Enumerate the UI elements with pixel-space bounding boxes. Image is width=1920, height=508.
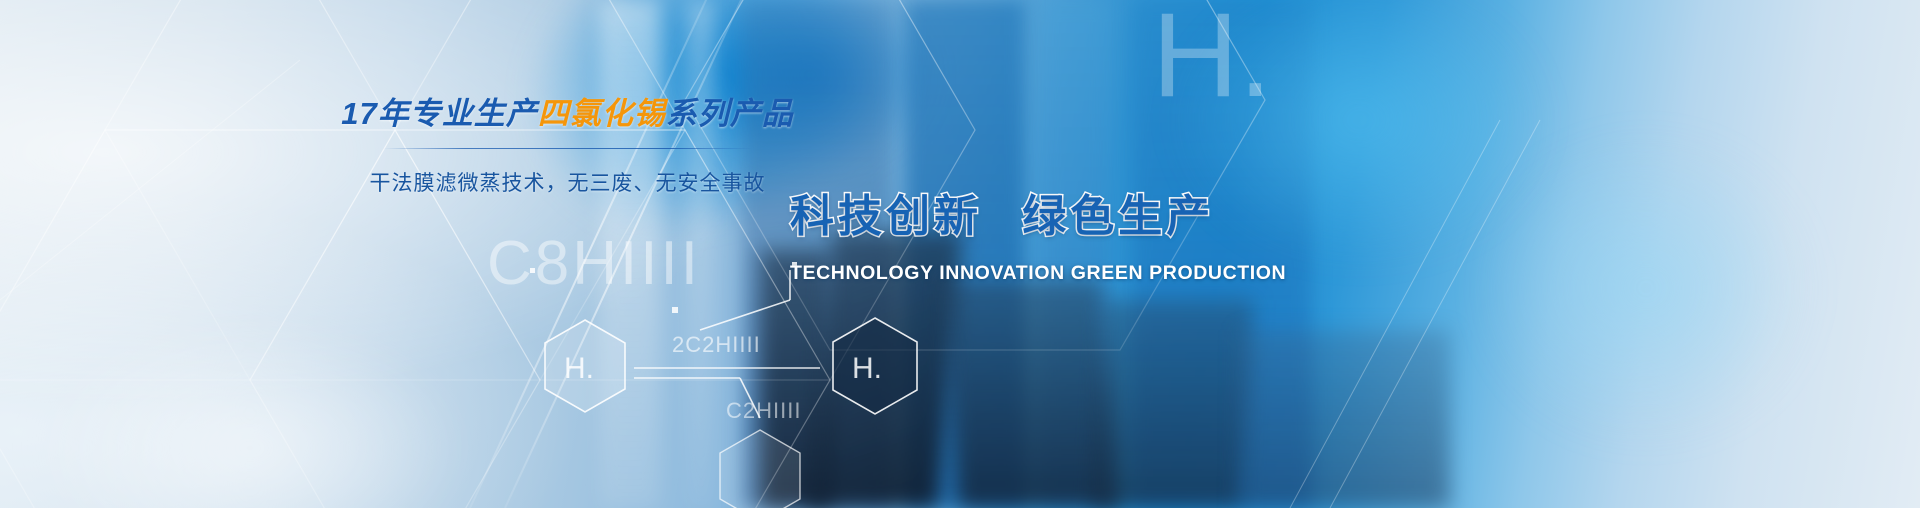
slogan-spacer: [982, 192, 1022, 241]
hexagon-label-left: H.: [564, 352, 594, 386]
slogan-chinese-part1: 科技创新: [790, 192, 982, 241]
lab-equipment-silhouette-3: [942, 280, 1118, 508]
hero-banner: H. C8HIIII 2C2HIIII C2HIIII H. H. 17年专业生…: [0, 0, 1920, 508]
formula-watermark-bottom: C2HIIII: [726, 398, 801, 424]
left-headline-accent: 四氯化锡: [538, 96, 666, 131]
slogan-chinese-part2: 绿色生产: [1022, 192, 1214, 241]
hexagon-label-right: H.: [852, 352, 882, 386]
slogan-english: TECHNOLOGY INNOVATION GREEN PRODUCTION: [790, 262, 1190, 285]
formula-watermark-middle: 2C2HIIII: [672, 332, 761, 358]
left-headline: 17年专业生产四氯化锡系列产品: [0, 95, 1135, 134]
formula-watermark-main: C8HIIII: [487, 228, 701, 299]
right-copy-block: 科技创新 绿色生产 TECHNOLOGY INNOVATION GREEN PR…: [790, 180, 1190, 285]
left-headline-suffix: 系列产品: [666, 96, 794, 131]
atom-watermark-large: H.: [1152, 0, 1272, 124]
left-headline-prefix: 17年专业生产: [341, 96, 537, 131]
slogan-chinese: 科技创新 绿色生产: [790, 180, 1190, 244]
highlight-glow-right-lower: [1370, 120, 1830, 508]
highlight-glow-bottom-left: [0, 268, 560, 508]
lab-equipment-silhouette-4: [1093, 300, 1254, 508]
headline-divider: [383, 148, 753, 149]
